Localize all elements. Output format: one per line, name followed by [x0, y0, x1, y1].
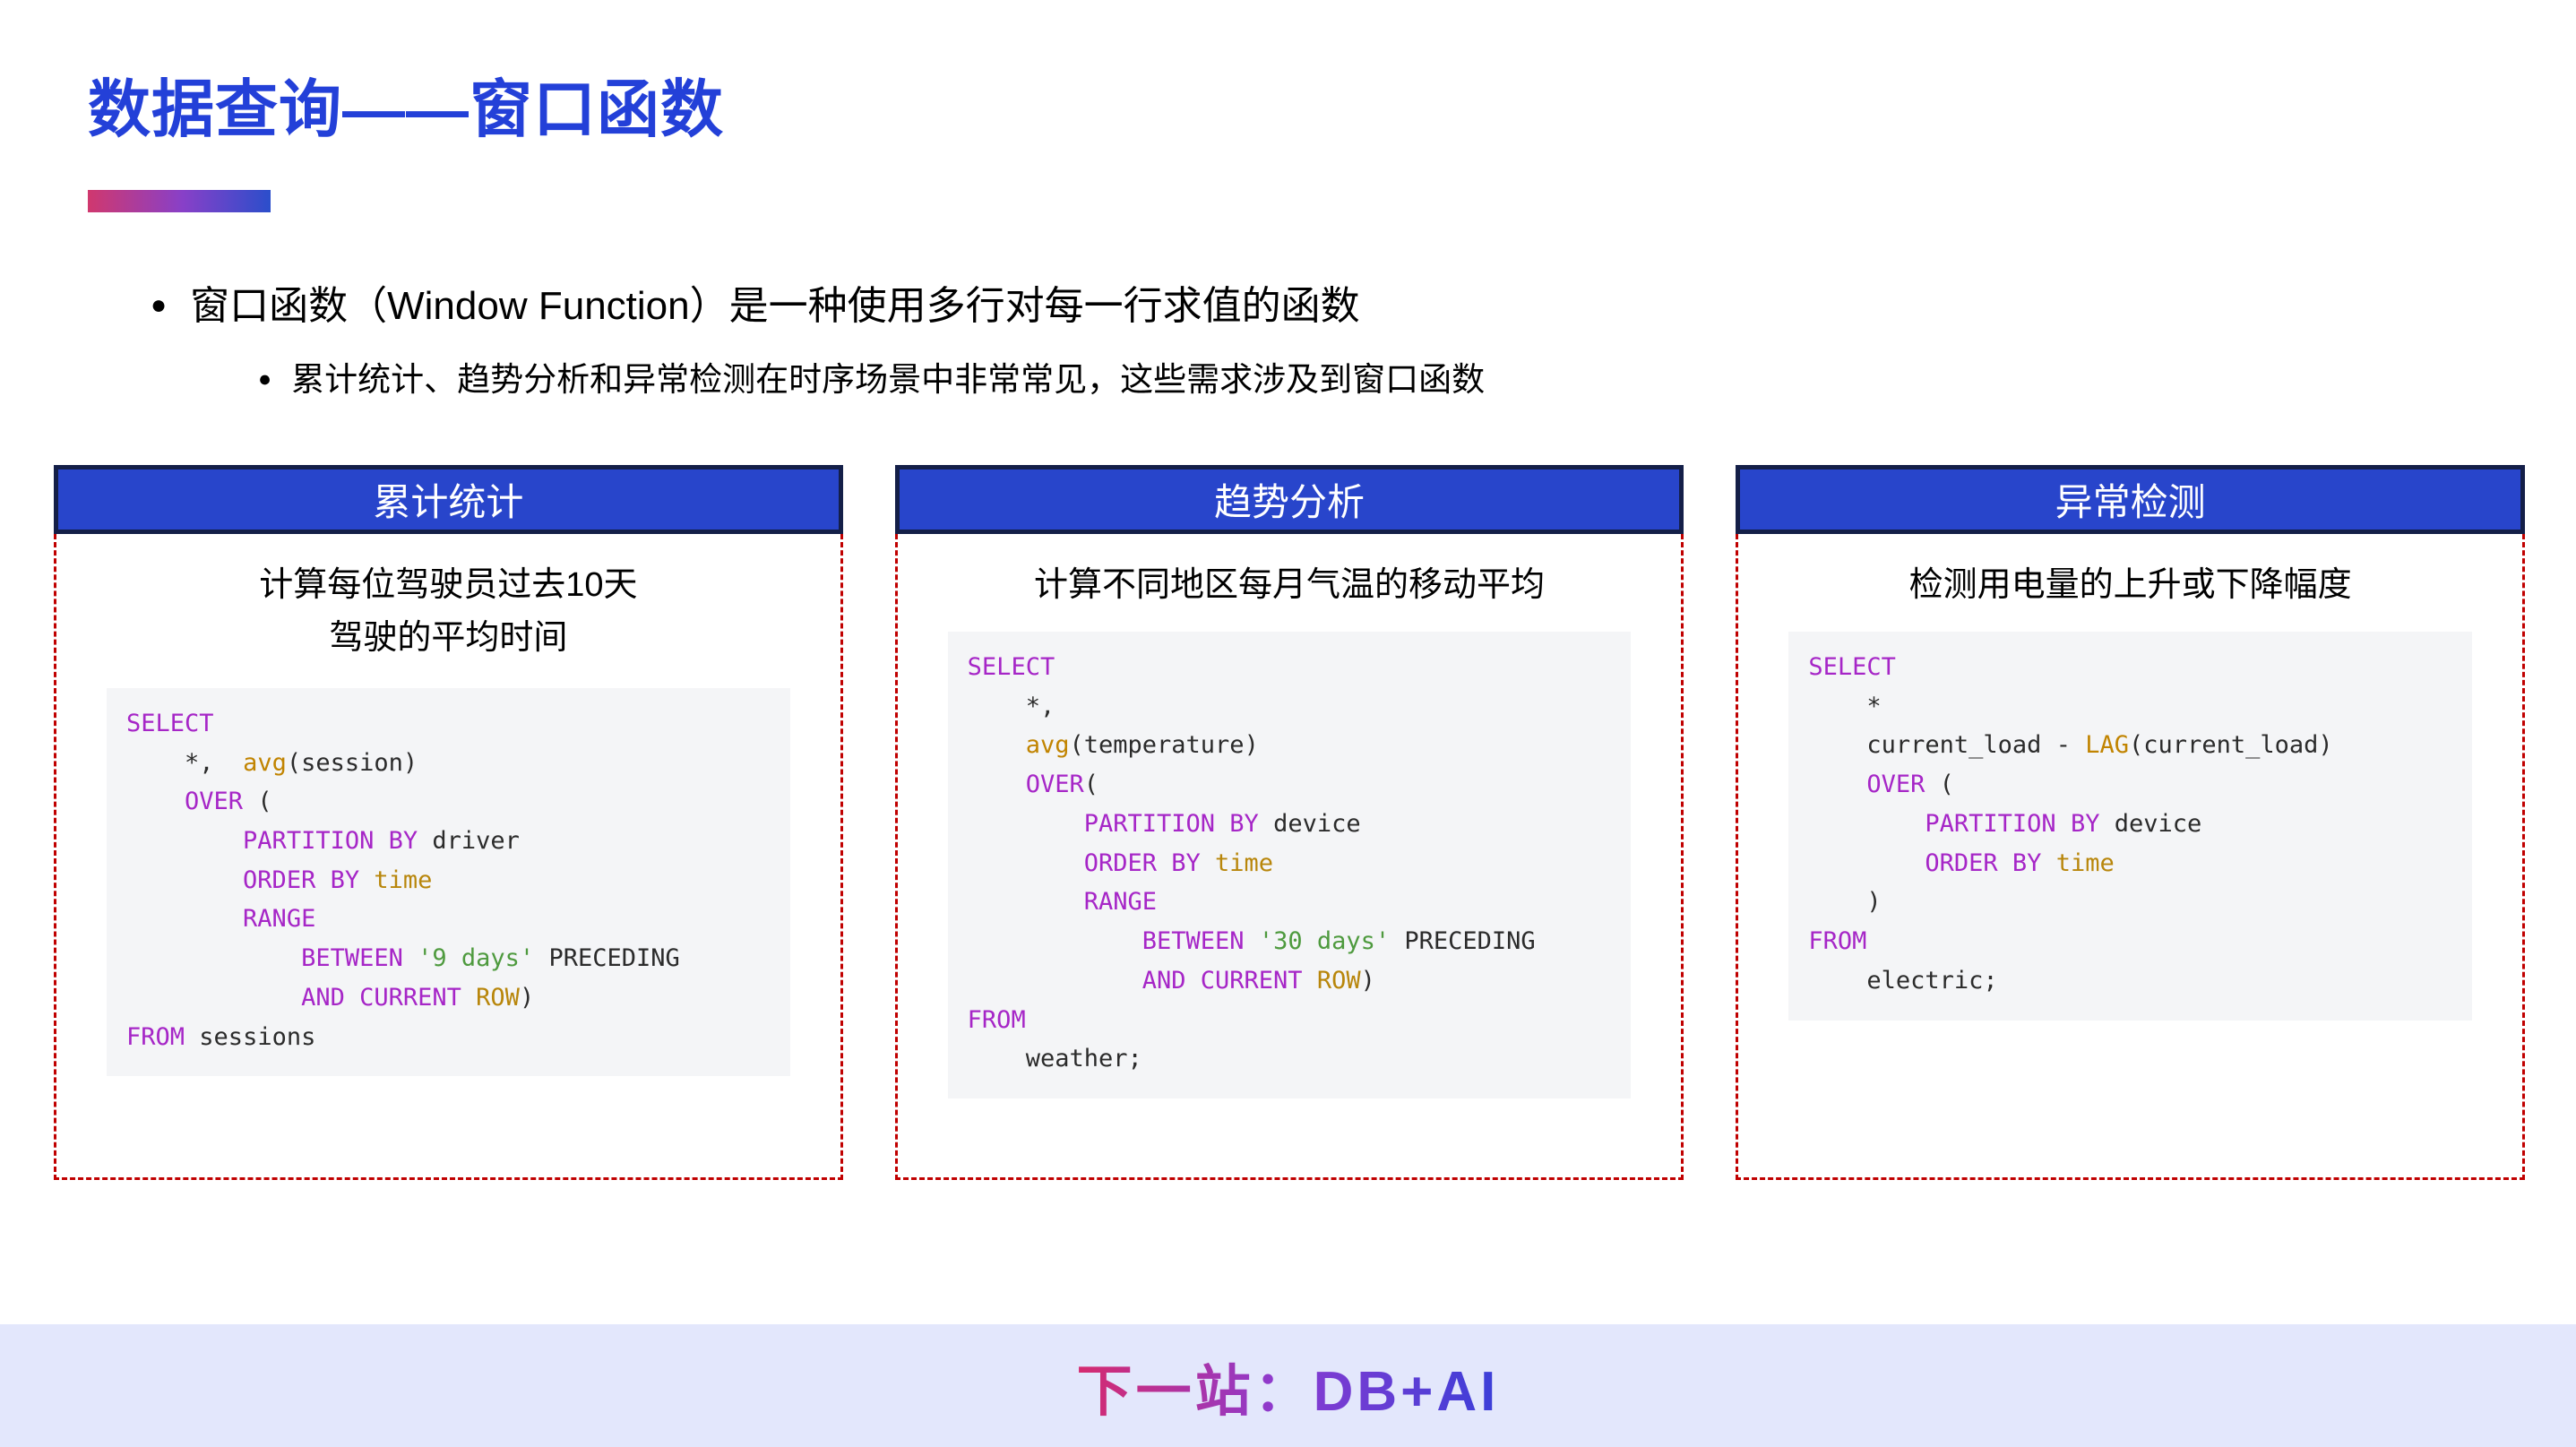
card-body: 计算每位驾驶员过去10天 驾驶的平均时间 SELECT *, avg(sessi…	[54, 534, 843, 1180]
bullet-level-1: ● 窗口函数（Window Function）是一种使用多行对每一行求值的函数	[151, 273, 1360, 331]
bullet-marker-icon: ●	[151, 292, 167, 319]
code-block-sql: SELECT *, avg(session) OVER ( PARTITION …	[107, 688, 790, 1077]
card-body: 检测用电量的上升或下降幅度 SELECT * current_load - LA…	[1736, 534, 2525, 1180]
card-header-title: 累计统计	[54, 465, 843, 534]
card-row: 累计统计 计算每位驾驶员过去10天 驾驶的平均时间 SELECT *, avg(…	[54, 465, 2525, 1180]
card-description: 计算不同地区每月气温的移动平均	[948, 559, 1632, 612]
card-trend-analysis: 趋势分析 计算不同地区每月气温的移动平均 SELECT *, avg(tempe…	[895, 465, 1684, 1180]
card-body: 计算不同地区每月气温的移动平均 SELECT *, avg(temperatur…	[895, 534, 1684, 1180]
bullet-level-1-text: 窗口函数（Window Function）是一种使用多行对每一行求值的函数	[190, 273, 1359, 331]
code-block-sql: SELECT * current_load - LAG(current_load…	[1788, 632, 2472, 1021]
bullet-level-2: ● 累计统计、趋势分析和异常检测在时序场景中非常常见，这些需求涉及到窗口函数	[258, 352, 1485, 401]
bullet-marker-icon: ●	[258, 368, 271, 391]
card-description: 检测用电量的上升或下降幅度	[1788, 559, 2472, 612]
slide-root: 数据查询——窗口函数 ● 窗口函数（Window Function）是一种使用多…	[0, 0, 2576, 1447]
card-cumulative-statistics: 累计统计 计算每位驾驶员过去10天 驾驶的平均时间 SELECT *, avg(…	[54, 465, 843, 1180]
footer-band: 下一站：DB+AI	[0, 1324, 2576, 1447]
bullet-level-2-text: 累计统计、趋势分析和异常检测在时序场景中非常常见，这些需求涉及到窗口函数	[291, 352, 1485, 401]
card-description: 计算每位驾驶员过去10天 驾驶的平均时间	[107, 559, 790, 665]
card-header-title: 趋势分析	[895, 465, 1684, 534]
title-gradient-rule	[88, 190, 271, 212]
card-anomaly-detection: 异常检测 检测用电量的上升或下降幅度 SELECT * current_load…	[1736, 465, 2525, 1180]
page-title: 数据查询——窗口函数	[88, 59, 724, 150]
card-header-title: 异常检测	[1736, 465, 2525, 534]
footer-tagline: 下一站：DB+AI	[1077, 1346, 1500, 1426]
code-block-sql: SELECT *, avg(temperature) OVER( PARTITI…	[948, 632, 1632, 1098]
